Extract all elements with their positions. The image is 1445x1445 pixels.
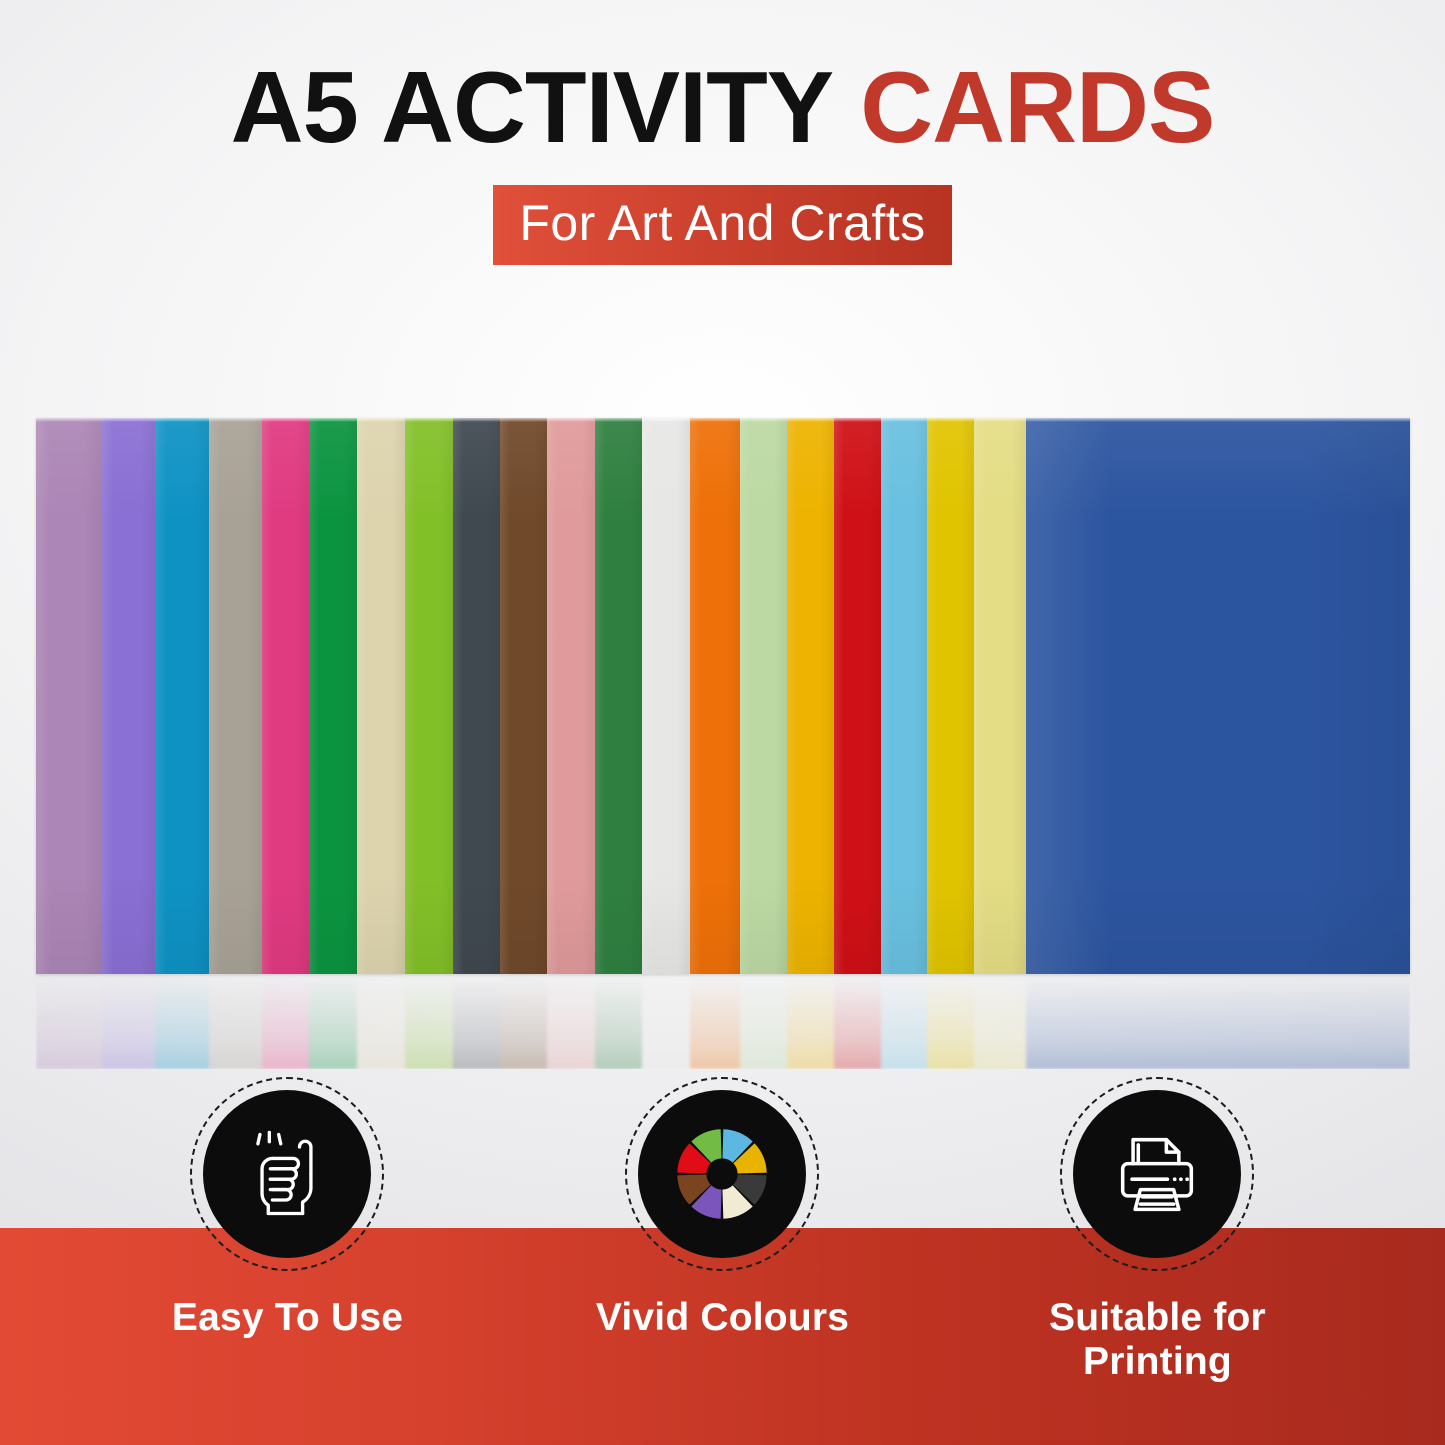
card-cream xyxy=(357,418,405,974)
card-red xyxy=(834,418,881,974)
card-royal-blue xyxy=(1026,418,1410,974)
card-reflection-taupe-grey xyxy=(209,974,262,1069)
card-orange xyxy=(690,418,740,974)
card-reflection-brown xyxy=(500,974,547,1069)
card-reflection-salmon-pink xyxy=(547,974,595,1069)
card-reflection-golden-yellow xyxy=(787,974,834,1069)
colour-wheel-icon xyxy=(670,1122,774,1226)
pointing-hand-icon xyxy=(235,1122,339,1226)
subtitle-badge: For Art And Crafts xyxy=(493,185,951,265)
card-reflection-violet xyxy=(102,974,155,1069)
feature-label: Easy To Use xyxy=(172,1296,403,1340)
card-reflection-red xyxy=(834,974,881,1069)
card-reflection-orange xyxy=(690,974,740,1069)
feature-badge xyxy=(638,1090,806,1258)
card-pale-green xyxy=(740,418,787,974)
card-reflection-sky-blue xyxy=(881,974,927,1069)
poster-header: A5 ACTIVITY CARDS For Art And Crafts xyxy=(0,58,1445,265)
feature-badge xyxy=(1073,1090,1241,1258)
feature-label: Vivid Colours xyxy=(596,1296,849,1340)
card-stack xyxy=(36,418,1410,974)
card-reflection-lilac xyxy=(36,974,102,1069)
card-bright-yellow xyxy=(927,418,974,974)
card-golden-yellow xyxy=(787,418,834,974)
card-reflection-pale-green xyxy=(740,974,787,1069)
feature-badge xyxy=(203,1090,371,1258)
card-stack-reflection xyxy=(36,974,1410,1069)
product-poster: A5 ACTIVITY CARDS For Art And Crafts xyxy=(0,0,1445,1445)
card-reflection-cream xyxy=(357,974,405,1069)
card-violet xyxy=(102,418,155,974)
card-reflection-bright-yellow xyxy=(927,974,974,1069)
card-stack-photo xyxy=(36,418,1410,974)
card-cyan-blue xyxy=(155,418,209,974)
printer-icon xyxy=(1105,1122,1209,1226)
card-salmon-pink xyxy=(547,418,595,974)
card-slate-grey xyxy=(453,418,500,974)
card-lime-green xyxy=(405,418,453,974)
card-reflection-white xyxy=(642,974,690,1069)
card-pale-yellow xyxy=(974,418,1026,974)
card-forest-green xyxy=(595,418,642,974)
card-reflection-pale-yellow xyxy=(974,974,1026,1069)
feature-label: Suitable for Printing xyxy=(1012,1296,1302,1383)
card-green xyxy=(309,418,357,974)
card-brown xyxy=(500,418,547,974)
page-title: A5 ACTIVITY CARDS xyxy=(0,58,1445,159)
card-reflection-slate-grey xyxy=(453,974,500,1069)
card-reflection-royal-blue xyxy=(1026,974,1410,1069)
card-reflection-forest-green xyxy=(595,974,642,1069)
feature-vivid-colours: Vivid Colours xyxy=(507,1090,938,1340)
feature-list: Easy To Use Vivid Colours xyxy=(0,1090,1445,1445)
card-reflection-lime-green xyxy=(405,974,453,1069)
feature-suitable-for-printing: Suitable for Printing xyxy=(942,1090,1373,1383)
card-sky-blue xyxy=(881,418,927,974)
card-reflection-green xyxy=(309,974,357,1069)
card-taupe-grey xyxy=(209,418,262,974)
title-accent: CARDS xyxy=(860,52,1214,164)
card-lilac xyxy=(36,418,102,974)
card-magenta-pink xyxy=(262,418,309,974)
card-reflection-magenta-pink xyxy=(262,974,309,1069)
title-primary: A5 ACTIVITY xyxy=(231,52,834,164)
subtitle-container: For Art And Crafts xyxy=(0,185,1445,265)
card-reflection-cyan-blue xyxy=(155,974,209,1069)
feature-easy-to-use: Easy To Use xyxy=(72,1090,503,1340)
card-white xyxy=(642,418,690,974)
